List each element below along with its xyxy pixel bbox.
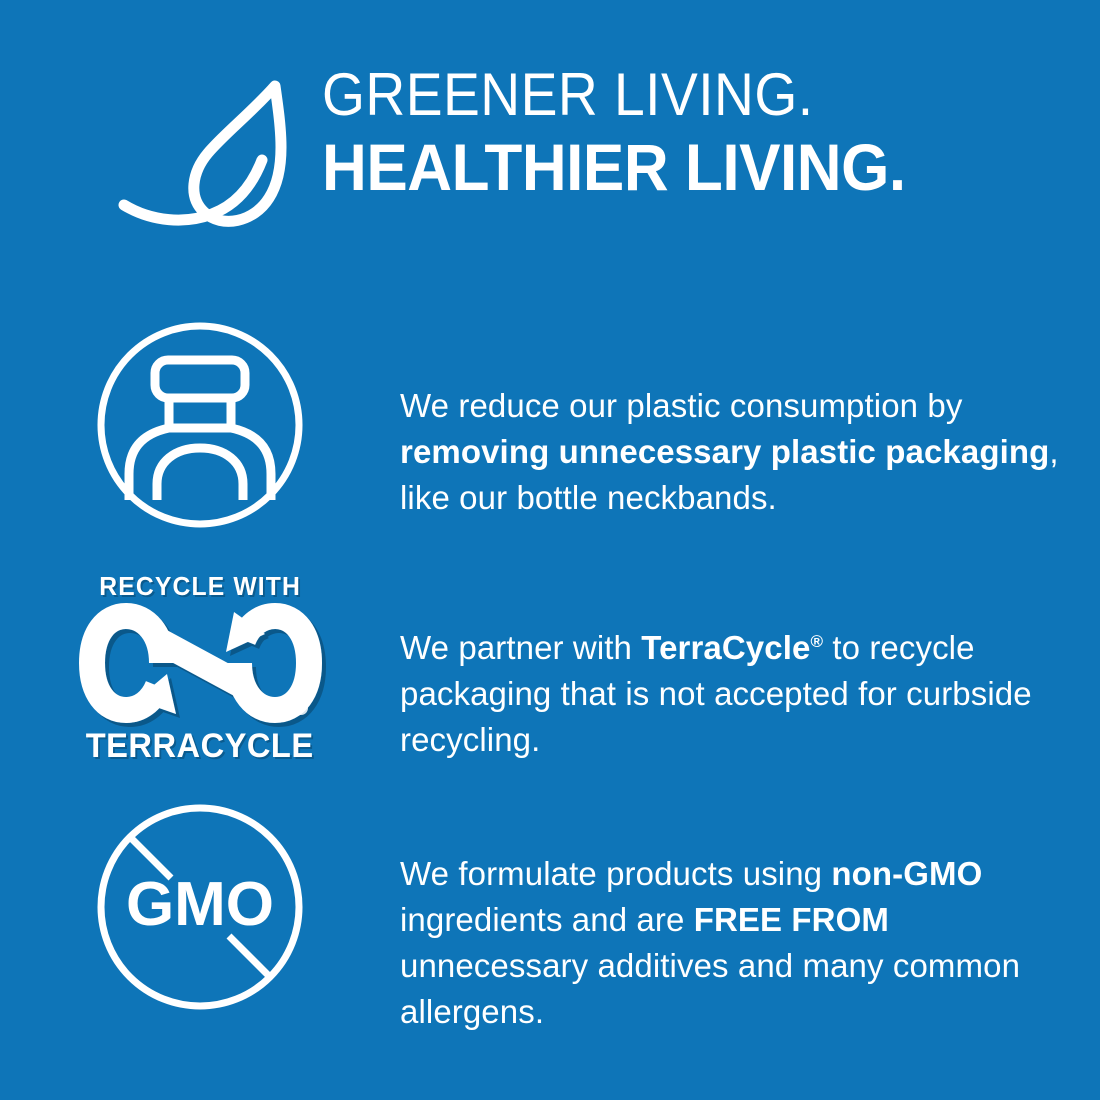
bottle-icon-cell	[0, 318, 400, 533]
text-run: We partner with	[400, 629, 641, 666]
benefit-text-terracycle: We partner with TerraCycle® to recycle p…	[400, 625, 1070, 763]
registered-symbol: ®	[810, 632, 823, 651]
terracycle-text-cell: We partner with TerraCycle® to recycle p…	[400, 570, 1100, 796]
text-run-bold: TerraCycle	[641, 629, 810, 666]
terracycle-icon-cell: RECYCLE WITH	[0, 570, 400, 762]
plastic-reduction-text-cell: We reduce our plastic consumption by rem…	[400, 318, 1100, 554]
benefit-text-non-gmo: We formulate products using non-GMO ingr…	[400, 851, 1070, 1035]
non-gmo-text-cell: We formulate products using non-GMO ingr…	[400, 800, 1100, 1068]
text-run: We formulate products using	[400, 855, 831, 892]
text-run: ingredients and are	[400, 901, 694, 938]
registered-mark-icon	[294, 701, 308, 715]
text-run: We reduce our plastic consumption by	[400, 387, 962, 424]
infinity-recycle-arrows-icon	[88, 604, 313, 722]
terracycle-logo: RECYCLE WITH	[85, 572, 315, 764]
benefit-text-plastic: We reduce our plastic consumption by rem…	[400, 383, 1070, 521]
benefit-row-plastic-reduction: We reduce our plastic consumption by rem…	[0, 318, 1100, 538]
benefit-row-non-gmo: GMO We formulate products using non-GMO …	[0, 800, 1100, 1020]
terracycle-top-label: RECYCLE WITH	[99, 572, 301, 600]
headline-block: GREENER LIVING. HEALTHIER LIVING.	[322, 62, 1022, 204]
bottle-in-circle-icon	[95, 318, 305, 533]
gmo-label: GMO	[126, 870, 274, 939]
text-run-bold: non-GMO	[831, 855, 982, 892]
gmo-icon-cell: GMO	[0, 800, 400, 1015]
benefit-row-terracycle: RECYCLE WITH	[0, 570, 1100, 770]
text-run: unnecessary additives and many common al…	[400, 947, 1020, 1030]
headline-line-2: HEALTHIER LIVING.	[322, 130, 980, 204]
header-banner: GREENER LIVING. HEALTHIER LIVING.	[0, 62, 1100, 242]
no-gmo-icon: GMO	[95, 800, 305, 1015]
text-run-bold: removing unnecessary plastic packaging	[400, 433, 1049, 470]
text-run-bold: FREE FROM	[694, 901, 889, 938]
terracycle-bottom-label: TERRACYCLE	[86, 728, 314, 764]
leaf-icon	[112, 74, 312, 239]
headline-line-1: GREENER LIVING.	[322, 62, 966, 128]
